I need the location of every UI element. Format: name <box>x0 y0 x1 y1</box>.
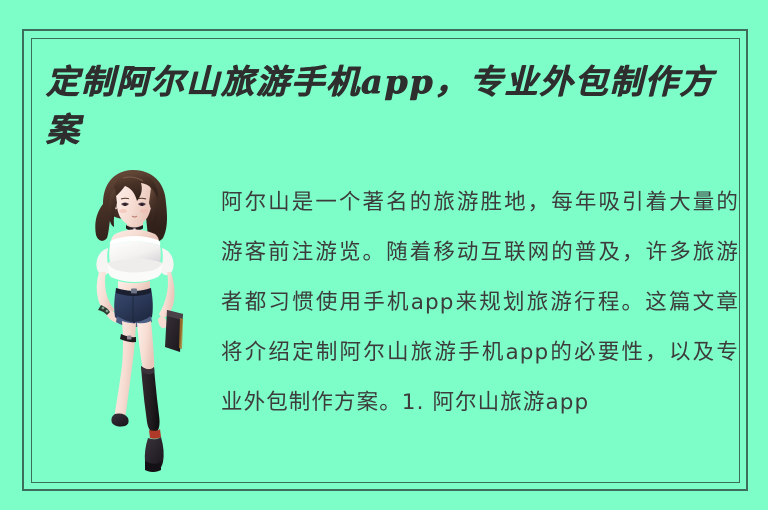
article-body: 阿尔山是一个著名的旅游胜地，每年吸引着大量的游客前注游览。随着移动互联网的普及，… <box>221 178 739 428</box>
anime-girl-illustration <box>63 168 211 473</box>
page-title: 定制阿尔山旅游手机app，专业外包制作方案 <box>46 58 746 154</box>
article-card: 定制阿尔山旅游手机app，专业外包制作方案 <box>0 0 768 510</box>
